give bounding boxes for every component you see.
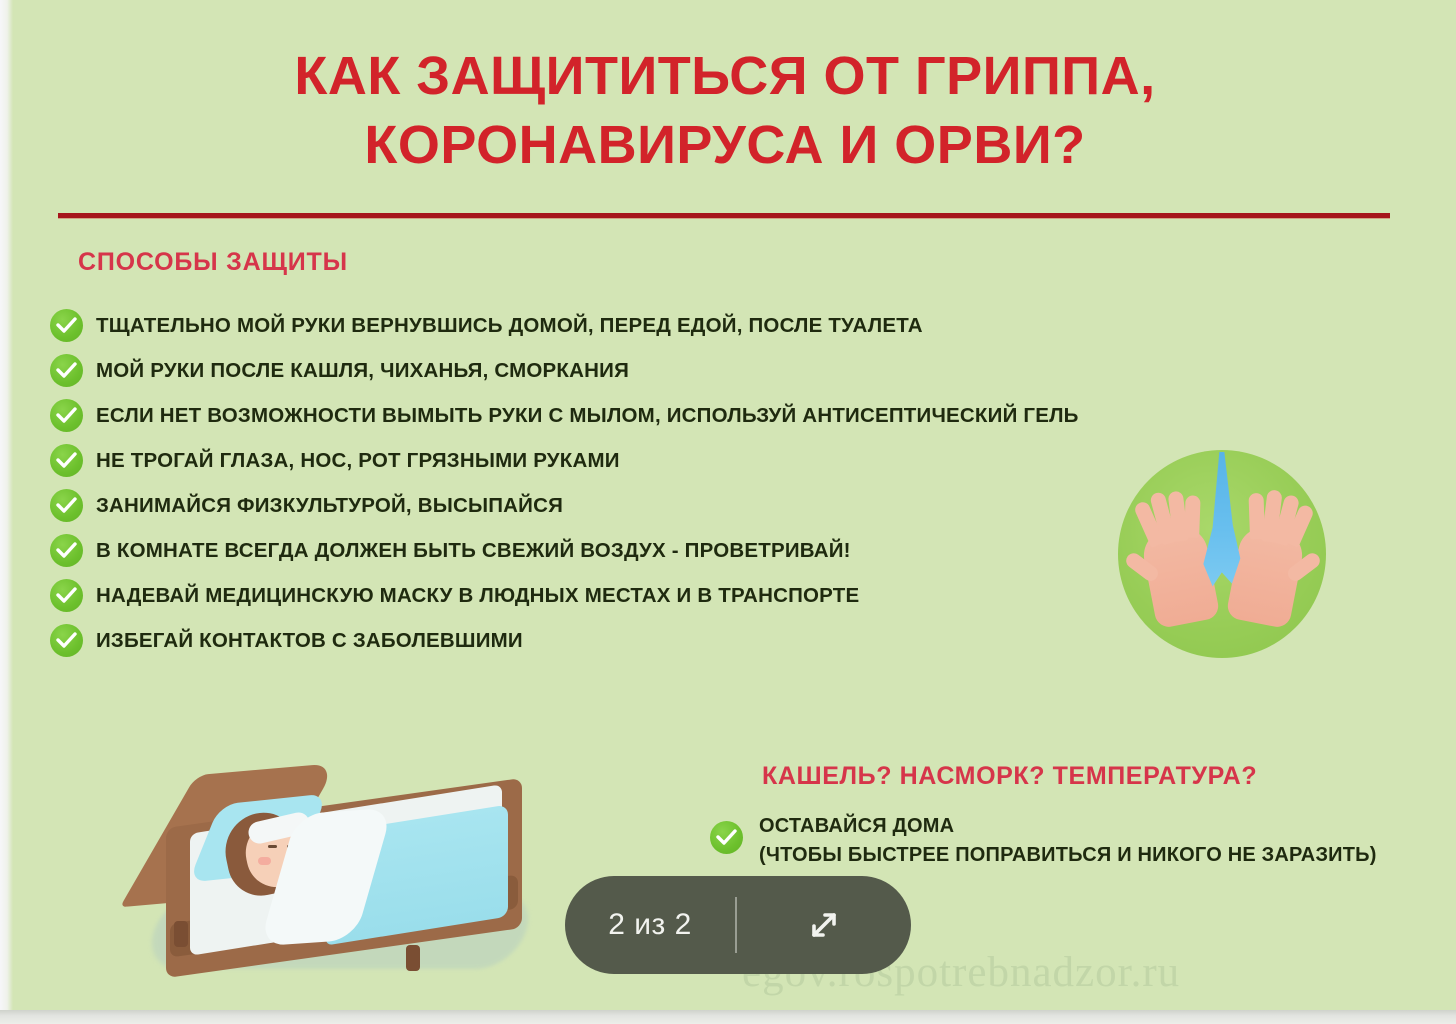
check-icon [50, 624, 83, 657]
title-divider [58, 213, 1390, 218]
page-title-line-1: КАК ЗАЩИТИТЬСЯ ОТ ГРИППА, [60, 42, 1390, 111]
list-item-label: МОЙ РУКИ ПОСЛЕ КАШЛЯ, ЧИХАНЬЯ, СМОРКАНИЯ [96, 359, 629, 383]
check-icon [50, 534, 83, 567]
list-item-label: ЗАНИМАЙСЯ ФИЗКУЛЬТУРОЙ, ВЫСЫПАЙСЯ [96, 494, 563, 518]
document-viewer-toolbar[interactable]: 2 из 2 [565, 876, 911, 974]
section-heading-symptoms: КАШЕЛЬ? НАСМОРК? ТЕМПЕРАТУРА? [762, 762, 1257, 791]
list-item: ЗАНИМАЙСЯ ФИЗКУЛЬТУРОЙ, ВЫСЫПАЙСЯ [50, 483, 1150, 528]
expand-diagonal-icon[interactable] [737, 905, 911, 945]
protection-list: ТЩАТЕЛЬНО МОЙ РУКИ ВЕРНУВШИСЬ ДОМОЙ, ПЕР… [50, 303, 1150, 663]
list-item: ЕСЛИ НЕТ ВОЗМОЖНОСТИ ВЫМЫТЬ РУКИ С МЫЛОМ… [50, 393, 1150, 438]
check-icon [50, 399, 83, 432]
list-item-label: НЕ ТРОГАЙ ГЛАЗА, НОС, РОТ ГРЯЗНЫМИ РУКАМ… [96, 449, 620, 473]
section-heading-protection: СПОСОБЫ ЗАЩИТЫ [78, 248, 348, 277]
check-icon [710, 821, 743, 854]
water-stream-icon [1200, 452, 1242, 592]
check-icon [50, 309, 83, 342]
list-item: ТЩАТЕЛЬНО МОЙ РУКИ ВЕРНУВШИСЬ ДОМОЙ, ПЕР… [50, 303, 1150, 348]
list-item: ИЗБЕГАЙ КОНТАКТОВ С ЗАБОЛЕВШИМИ [50, 618, 1150, 663]
person-sick-in-bed-illustration [148, 765, 548, 985]
check-icon [50, 444, 83, 477]
list-item-label: ЕСЛИ НЕТ ВОЗМОЖНОСТИ ВЫМЫТЬ РУКИ С МЫЛОМ… [96, 404, 1079, 428]
list-item: В КОМНАТЕ ВСЕГДА ДОЛЖЕН БЫТЬ СВЕЖИЙ ВОЗД… [50, 528, 1150, 573]
list-item: НЕ ТРОГАЙ ГЛАЗА, НОС, РОТ ГРЯЗНЫМИ РУКАМ… [50, 438, 1150, 483]
bottom-edge-strip [0, 1010, 1456, 1024]
stay-home-secondary-label: (ЧТОБЫ БЫСТРЕЕ ПОПРАВИТЬСЯ И НИКОГО НЕ З… [759, 844, 1377, 867]
list-item-label: ТЩАТЕЛЬНО МОЙ РУКИ ВЕРНУВШИСЬ ДОМОЙ, ПЕР… [96, 314, 923, 338]
list-item: МОЙ РУКИ ПОСЛЕ КАШЛЯ, ЧИХАНЬЯ, СМОРКАНИЯ [50, 348, 1150, 393]
list-item-label: ИЗБЕГАЙ КОНТАКТОВ С ЗАБОЛЕВШИМИ [96, 629, 523, 653]
page-title: КАК ЗАЩИТИТЬСЯ ОТ ГРИППА, КОРОНАВИРУСА И… [60, 42, 1390, 180]
page-counter: 2 из 2 [565, 908, 735, 942]
poster-screen: КАК ЗАЩИТИТЬСЯ ОТ ГРИППА, КОРОНАВИРУСА И… [0, 0, 1456, 1024]
hands-washing-illustration [1118, 450, 1326, 658]
list-item-label: В КОМНАТЕ ВСЕГДА ДОЛЖЕН БЫТЬ СВЕЖИЙ ВОЗД… [96, 539, 851, 563]
check-icon [50, 579, 83, 612]
page-title-line-2: КОРОНАВИРУСА И ОРВИ? [60, 111, 1390, 180]
left-edge-strip [0, 0, 13, 1024]
list-item: НАДЕВАЙ МЕДИЦИНСКУЮ МАСКУ В ЛЮДНЫХ МЕСТА… [50, 573, 1150, 618]
check-icon [50, 354, 83, 387]
check-icon [50, 489, 83, 522]
hand-right [1225, 523, 1306, 629]
list-item-label: НАДЕВАЙ МЕДИЦИНСКУЮ МАСКУ В ЛЮДНЫХ МЕСТА… [96, 584, 859, 608]
stay-home-primary-label: ОСТАВАЙСЯ ДОМА [759, 815, 1377, 838]
stay-home-advice: ОСТАВАЙСЯ ДОМА (ЧТОБЫ БЫСТРЕЕ ПОПРАВИТЬС… [710, 815, 1377, 867]
